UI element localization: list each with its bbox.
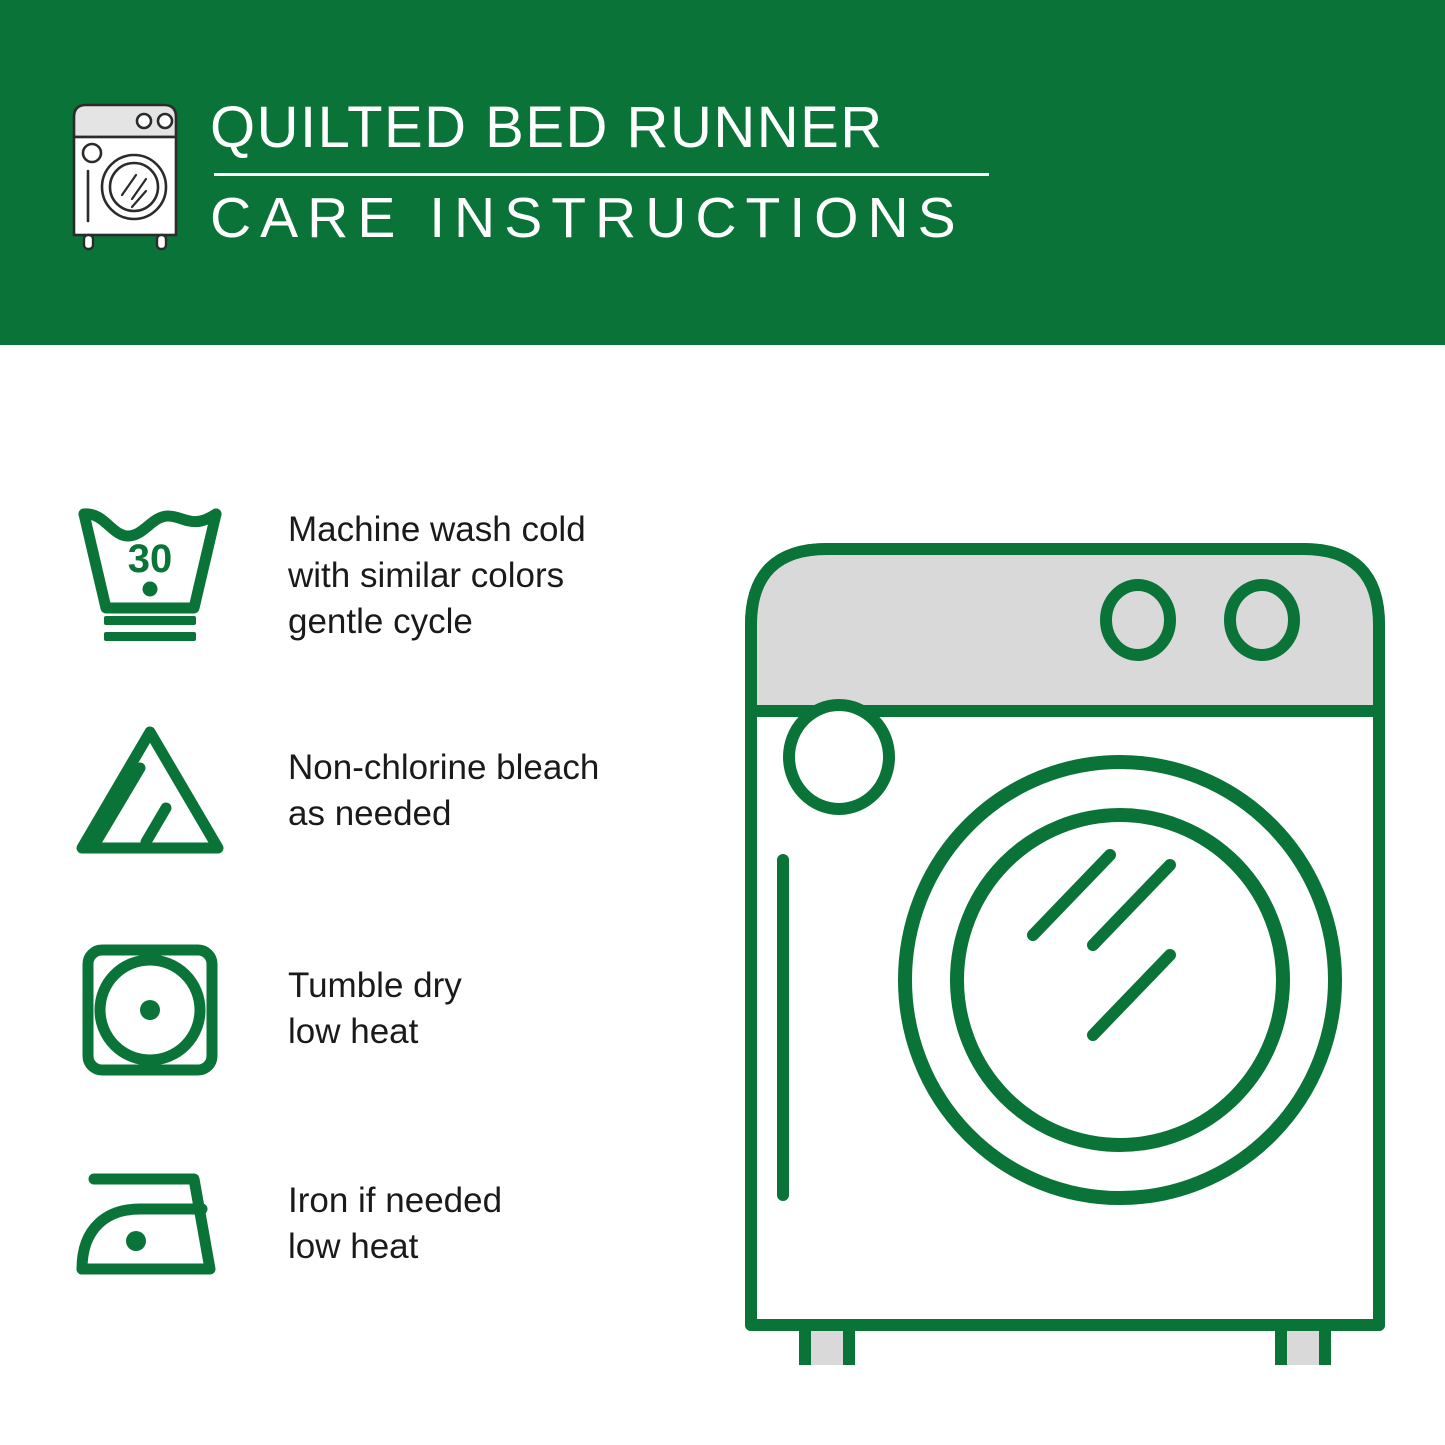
svg-text:30: 30: [128, 537, 173, 581]
care-item-iron: Iron if needed low heat: [70, 1150, 650, 1300]
care-instruction-list: 30 Machine wash cold with similar colors…: [0, 345, 660, 1445]
iron-low-heat-icon: [70, 1150, 230, 1300]
header-titles: QUILTED BED RUNNER CARE INSTRUCTIONS: [210, 95, 989, 247]
non-chlorine-bleach-icon: [70, 717, 230, 867]
page-title: QUILTED BED RUNNER: [210, 99, 989, 157]
care-item-tumble-dry: Tumble dry low heat: [70, 935, 650, 1085]
tumble-dry-low-icon: [70, 935, 230, 1085]
title-divider: [214, 173, 989, 176]
page-subtitle: CARE INSTRUCTIONS: [210, 190, 989, 247]
machine-wash-30-gentle-icon: 30: [70, 495, 230, 645]
care-item-label: Tumble dry low heat: [230, 935, 650, 1055]
control-knob: [1106, 585, 1170, 655]
header-banner: QUILTED BED RUNNER CARE INSTRUCTIONS: [0, 0, 1445, 345]
header-content: QUILTED BED RUNNER CARE INSTRUCTIONS: [62, 95, 989, 255]
care-item-machine-wash: 30 Machine wash cold with similar colors…: [70, 495, 650, 646]
care-item-label: Machine wash cold with similar colors ge…: [230, 495, 650, 646]
care-item-bleach: Non-chlorine bleach as needed: [70, 717, 650, 867]
washing-machine-illustration: [715, 465, 1415, 1365]
care-item-label: Iron if needed low heat: [230, 1150, 650, 1270]
care-item-label: Non-chlorine bleach as needed: [230, 717, 650, 837]
washing-machine-icon: [62, 95, 188, 255]
control-knob: [1230, 585, 1294, 655]
